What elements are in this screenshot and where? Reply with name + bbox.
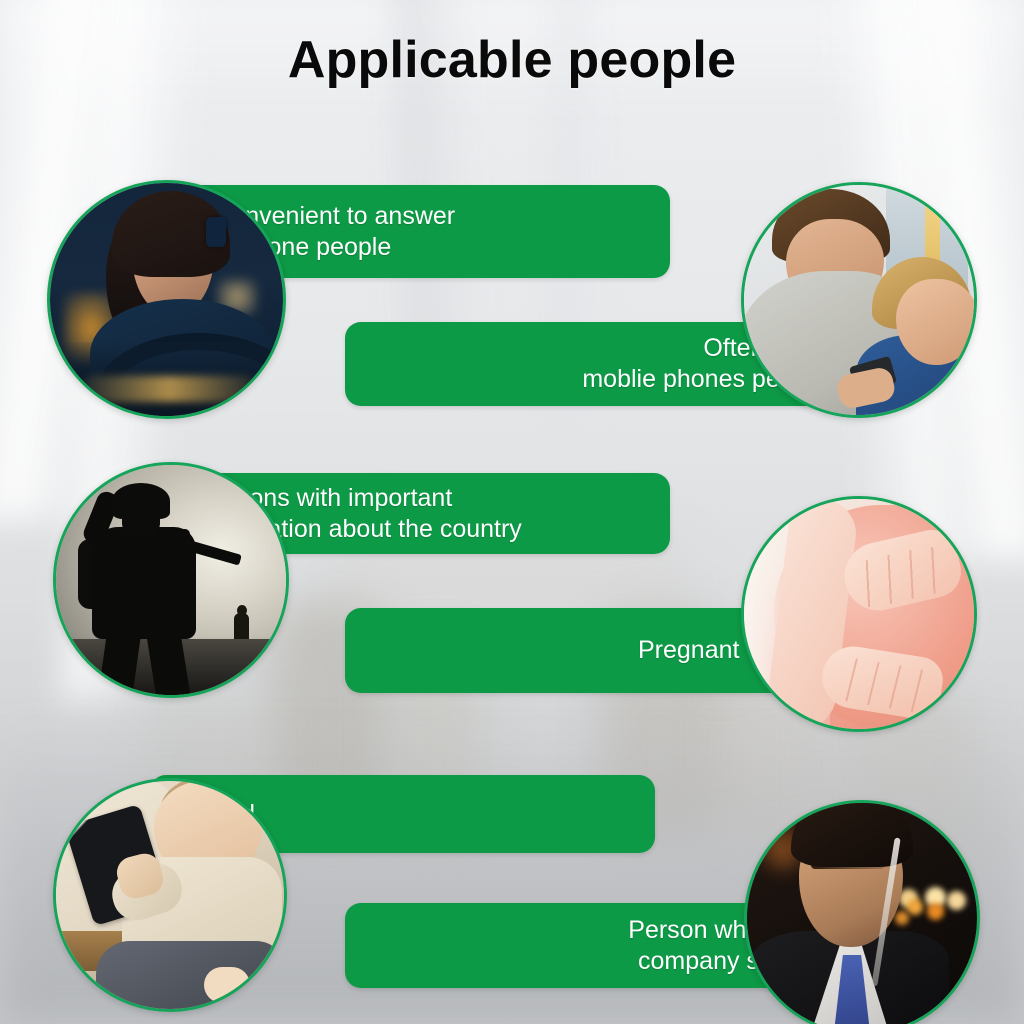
baby-holding-phone-photo (53, 778, 287, 1012)
photo-content (50, 183, 283, 416)
woman-driving-car-with-earpiece-photo (47, 180, 286, 419)
photo-content (744, 185, 974, 415)
pregnant-belly-photo (741, 496, 977, 732)
helmet-shape (112, 483, 170, 519)
photo-content (56, 781, 284, 1009)
soldier-silhouette-photo (53, 462, 289, 698)
foot-shape (204, 967, 250, 1003)
face-shape (896, 279, 977, 365)
businessman-with-earpiece-photo (744, 800, 980, 1024)
earpiece-shape (206, 217, 226, 247)
photo-content (747, 803, 977, 1024)
page-title: Applicable people (0, 30, 1024, 90)
bokeh-light (895, 911, 909, 925)
light-glow (84, 376, 254, 402)
photo-content (744, 499, 974, 729)
man-and-boy-with-phone-photo (741, 182, 977, 418)
bokeh-light (907, 899, 923, 915)
bokeh-light (947, 891, 966, 910)
distant-soldier-head-shape (237, 605, 247, 616)
rifle-stock-shape (156, 529, 190, 559)
bokeh-light (927, 903, 944, 920)
pants-shape (96, 941, 286, 1012)
photo-content (56, 465, 286, 695)
